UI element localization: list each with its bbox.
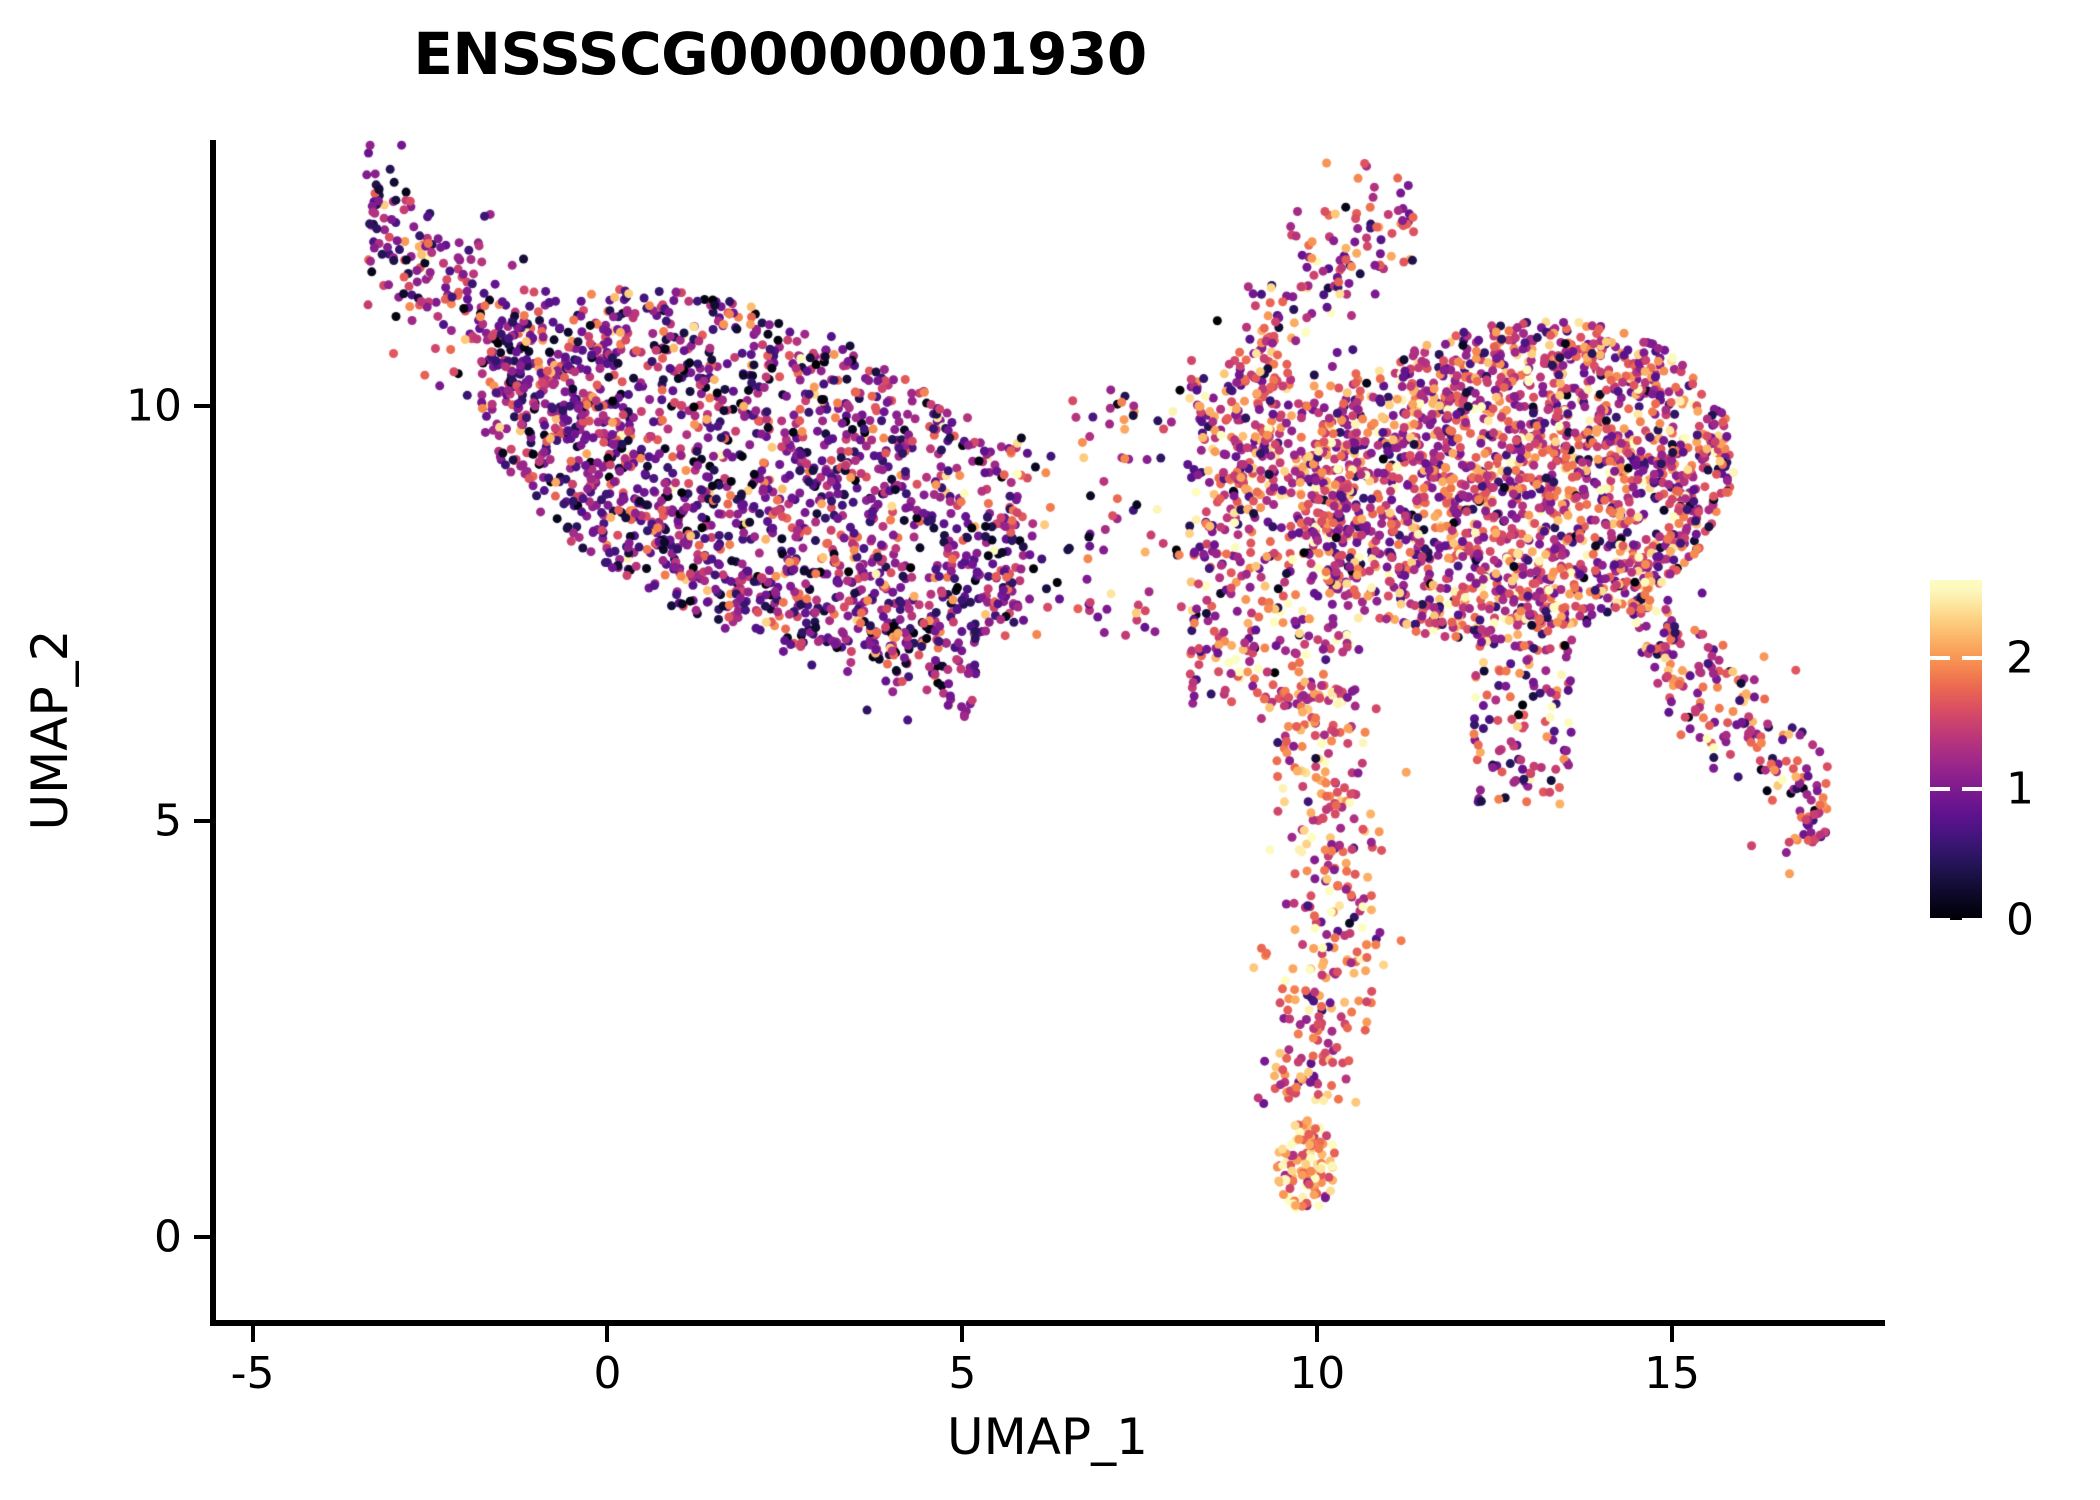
page-title: ENSSSCG00000001930 — [0, 20, 1560, 88]
y-axis-spine — [210, 140, 216, 1320]
x-tick-label: 0 — [593, 1348, 621, 1399]
colorbar-tick-mark — [1962, 656, 1982, 660]
colorbar-gradient — [1930, 580, 1982, 920]
y-tick-mark — [194, 819, 210, 823]
y-tick-label: 5 — [154, 796, 182, 847]
scatter-points-canvas — [210, 140, 1885, 1320]
colorbar-legend: 012 — [1930, 580, 2090, 920]
colorbar-tick-label: 2 — [2006, 633, 2034, 684]
colorbar-tick-mark — [1962, 787, 1982, 791]
x-tick-mark — [605, 1326, 609, 1342]
colorbar-tick-mark — [1930, 918, 1950, 922]
y-axis-label-wrap: UMAP_2 — [20, 140, 80, 1320]
x-axis-spine — [210, 1320, 1885, 1326]
y-tick-mark — [194, 404, 210, 408]
x-tick-label: 15 — [1644, 1348, 1700, 1399]
x-tick-label: -5 — [231, 1348, 275, 1399]
y-tick-mark — [194, 1235, 210, 1239]
colorbar-tick-mark — [1962, 918, 1982, 922]
umap-feature-plot: ENSSSCG00000001930 -5051015 0510 UMAP_1 … — [0, 0, 2100, 1500]
y-tick-label: 0 — [154, 1211, 182, 1262]
y-tick-label: 10 — [126, 380, 182, 431]
x-tick-label: 5 — [948, 1348, 976, 1399]
colorbar-tick-mark — [1930, 787, 1950, 791]
colorbar-tick-label: 0 — [2006, 895, 2034, 946]
x-tick-label: 10 — [1289, 1348, 1345, 1399]
x-tick-mark — [251, 1326, 255, 1342]
x-tick-mark — [1670, 1326, 1674, 1342]
y-axis-label: UMAP_2 — [21, 630, 79, 831]
x-tick-mark — [1315, 1326, 1319, 1342]
x-axis-label: UMAP_1 — [210, 1408, 1885, 1466]
x-tick-mark — [960, 1326, 964, 1342]
colorbar-tick-mark — [1930, 656, 1950, 660]
plot-area — [210, 140, 1885, 1320]
colorbar-tick-label: 1 — [2006, 764, 2034, 815]
